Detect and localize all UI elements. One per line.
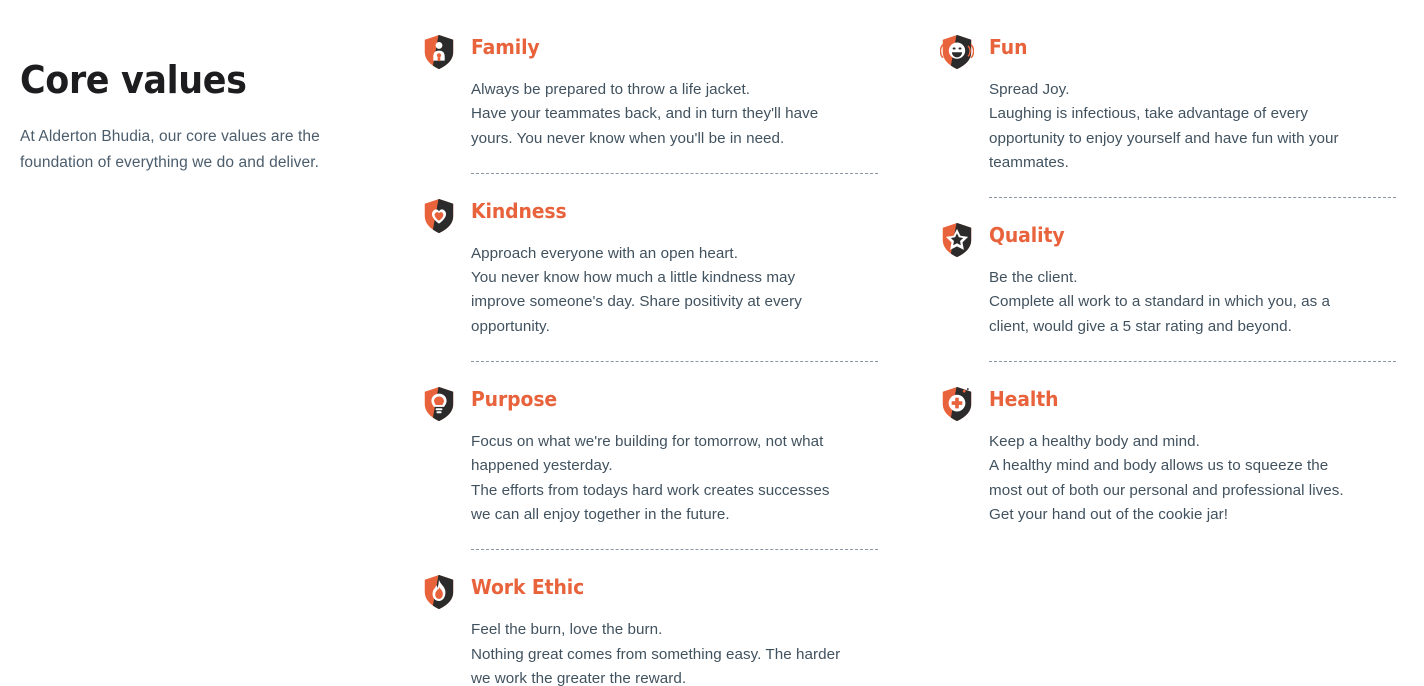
value-divider: [471, 549, 878, 550]
value-title: Kindness: [471, 196, 567, 226]
value-divider: [989, 197, 1396, 198]
shield-smiley-icon: [940, 34, 974, 72]
shield-cross-icon: [940, 386, 974, 424]
value-description-line: opportunity to enjoy yourself and have f…: [989, 127, 1389, 151]
value-item-fun: FunSpread Joy.Laughing is infectious, ta…: [940, 32, 1396, 198]
value-description-line: Approach everyone with an open heart.: [471, 242, 878, 266]
value-description-line: Have your teammates back, and in turn th…: [471, 102, 878, 126]
value-item-family: FamilyAlways be prepared to throw a life…: [422, 32, 878, 174]
shield-family-icon: [422, 34, 456, 72]
value-description-line: Always be prepared to throw a life jacke…: [471, 78, 878, 102]
value-description-line: we work the greater the reward.: [471, 667, 878, 686]
value-description: Be the client.Complete all work to a sta…: [989, 266, 1396, 339]
value-description-line: A healthy mind and body allows us to squ…: [989, 454, 1396, 478]
shield-heart-icon: [422, 198, 456, 236]
page-title: Core values: [20, 58, 351, 102]
value-description-line: improve someone's day. Share positivity …: [471, 290, 878, 314]
value-description-line: opportunity.: [471, 315, 878, 339]
shield-flame-icon: [422, 574, 456, 612]
values-column-right: FunSpread Joy.Laughing is infectious, ta…: [940, 32, 1396, 686]
value-description: Spread Joy.Laughing is infectious, take …: [989, 78, 1389, 175]
value-description-line: Feel the burn, love the burn.: [471, 618, 878, 642]
value-description: Feel the burn, love the burn.Nothing gre…: [471, 618, 878, 686]
value-description-line: Focus on what we're building for tomorro…: [471, 430, 878, 454]
value-description: Keep a healthy body and mind.A healthy m…: [989, 430, 1396, 527]
value-description-line: Nothing great comes from something easy.…: [471, 643, 878, 667]
value-description-line: Spread Joy.: [989, 78, 1389, 102]
value-description-line: we can all enjoy together in the future.: [471, 503, 878, 527]
value-description-line: most out of both our personal and profes…: [989, 479, 1396, 503]
value-item-quality: QualityBe the client.Complete all work t…: [940, 220, 1396, 362]
value-item-work-ethic: Work EthicFeel the burn, love the burn.N…: [422, 572, 878, 686]
value-header: Quality: [940, 220, 1396, 260]
value-description-line: Get your hand out of the cookie jar!: [989, 503, 1396, 527]
value-item-health: HealthKeep a healthy body and mind.A hea…: [940, 384, 1396, 527]
value-description-line: teammates.: [989, 151, 1389, 175]
value-description-line: client, would give a 5 star rating and b…: [989, 315, 1396, 339]
intro-description: At Alderton Bhudia, our core values are …: [20, 124, 350, 176]
value-divider: [471, 173, 878, 174]
value-title: Purpose: [471, 384, 557, 414]
value-description: Always be prepared to throw a life jacke…: [471, 78, 878, 151]
shield-lightbulb-icon: [422, 386, 456, 424]
value-item-kindness: KindnessApproach everyone with an open h…: [422, 196, 878, 362]
intro-block: Core values At Alderton Bhudia, our core…: [20, 58, 380, 176]
shield-star-icon: [940, 222, 974, 260]
value-description-line: happened yesterday.: [471, 454, 878, 478]
value-divider: [471, 361, 878, 362]
value-description-line: Laughing is infectious, take advantage o…: [989, 102, 1389, 126]
value-title: Work Ethic: [471, 572, 584, 602]
core-values-page: Core values At Alderton Bhudia, our core…: [0, 0, 1424, 686]
value-description-line: Be the client.: [989, 266, 1396, 290]
value-title: Health: [989, 384, 1058, 414]
value-description: Approach everyone with an open heart.You…: [471, 242, 878, 339]
values-column-left: FamilyAlways be prepared to throw a life…: [422, 32, 878, 686]
value-divider: [989, 361, 1396, 362]
value-description: Focus on what we're building for tomorro…: [471, 430, 878, 527]
value-header: Work Ethic: [422, 572, 878, 612]
value-description-line: yours. You never know when you'll be in …: [471, 127, 878, 151]
value-header: Fun: [940, 32, 1396, 72]
value-header: Family: [422, 32, 878, 72]
value-description-line: Keep a healthy body and mind.: [989, 430, 1396, 454]
value-header: Purpose: [422, 384, 878, 424]
value-description-line: Complete all work to a standard in which…: [989, 290, 1396, 314]
value-item-purpose: PurposeFocus on what we're building for …: [422, 384, 878, 550]
value-description-line: You never know how much a little kindnes…: [471, 266, 878, 290]
value-title: Quality: [989, 220, 1065, 250]
value-header: Kindness: [422, 196, 878, 236]
value-title: Fun: [989, 32, 1027, 62]
value-description-line: The efforts from todays hard work create…: [471, 479, 878, 503]
values-columns: FamilyAlways be prepared to throw a life…: [422, 32, 1352, 686]
value-header: Health: [940, 384, 1396, 424]
value-title: Family: [471, 32, 540, 62]
